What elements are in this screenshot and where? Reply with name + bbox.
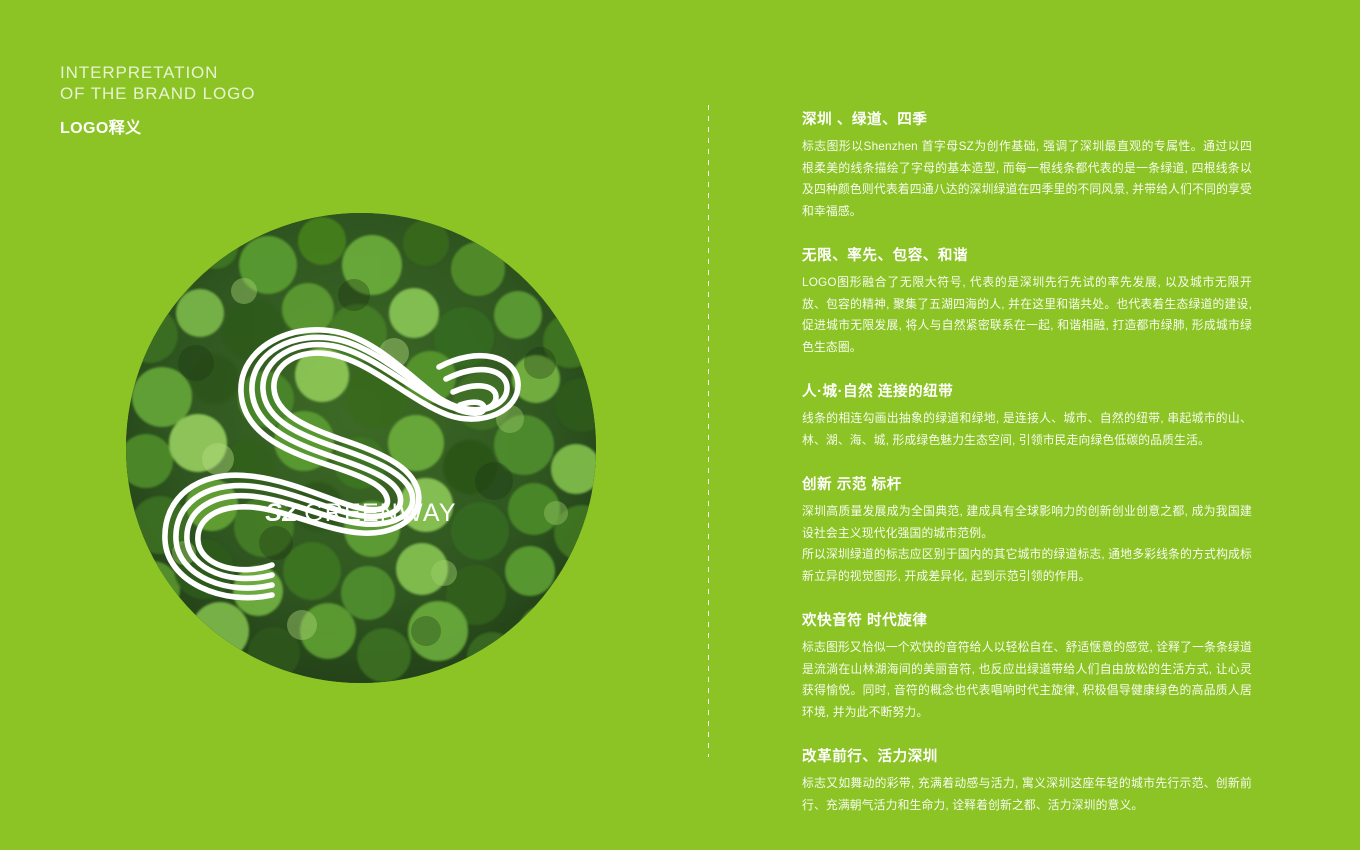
section-title: 无限、率先、包容、和谐	[802, 244, 1252, 265]
interpretation-content: 深圳 、绿道、四季 标志图形以Shenzhen 首字母SZ为创作基础, 强调了深…	[802, 108, 1252, 816]
section-title: 深圳 、绿道、四季	[802, 108, 1252, 129]
header-english-title: INTERPRETATION OF THE BRAND LOGO	[60, 62, 255, 104]
wordmark-greenway: GREENWAY	[304, 499, 457, 527]
brand-logo-interpretation-page: INTERPRETATION OF THE BRAND LOGO LOGO释义	[0, 0, 1360, 850]
section-title: 欢快音符 时代旋律	[802, 609, 1252, 630]
section-paragraph: 标志图形以Shenzhen 首字母SZ为创作基础, 强调了深圳最直观的专属性。通…	[802, 136, 1252, 222]
section-paragraph: 所以深圳绿道的标志应区别于国内的其它城市的绿道标志, 通地多彩线条的方式构成标新…	[802, 544, 1252, 587]
header-chinese-title: LOGO释义	[60, 114, 255, 138]
section-people-city-nature: 人·城·自然 连接的纽带 线条的相连勾画出抽象的绿道和绿地, 是连接人、城市、自…	[802, 380, 1252, 451]
section-joyful-notes-era-melody: 欢快音符 时代旋律 标志图形又恰似一个欢快的音符给人以轻松自在、舒适惬意的感觉,…	[802, 609, 1252, 723]
wordmark-sz: SZ	[265, 499, 298, 527]
section-paragraph: 线条的相连勾画出抽象的绿道和绿地, 是连接人、城市、自然的纽带, 串起城市的山、…	[802, 408, 1252, 451]
section-innovation-demonstration-benchmark: 创新 示范 标杆 深圳高质量发展成为全国典范, 建成具有全球影响力的创新创业创意…	[802, 473, 1252, 587]
section-paragraph: LOGO图形融合了无限大符号, 代表的是深圳先行先试的率先发展, 以及城市无限开…	[802, 272, 1252, 358]
section-title: 人·城·自然 连接的纽带	[802, 380, 1252, 401]
section-paragraph: 标志又如舞动的彩带, 充满着动感与活力, 寓义深圳这座年轻的城市先行示范、创新前…	[802, 773, 1252, 816]
page-header: INTERPRETATION OF THE BRAND LOGO LOGO释义	[60, 62, 255, 138]
section-title: 改革前行、活力深圳	[802, 745, 1252, 766]
section-paragraph: 深圳高质量发展成为全国典范, 建成具有全球影响力的创新创业创意之都, 成为我国建…	[802, 501, 1252, 544]
section-reform-vitality-shenzhen: 改革前行、活力深圳 标志又如舞动的彩带, 充满着动感与活力, 寓义深圳这座年轻的…	[802, 745, 1252, 816]
section-title: 创新 示范 标杆	[802, 473, 1252, 494]
section-infinite-pioneering-inclusive-harmony: 无限、率先、包容、和谐 LOGO图形融合了无限大符号, 代表的是深圳先行先试的率…	[802, 244, 1252, 358]
logo-wordmark: SZGREENWAY	[126, 501, 596, 526]
forest-canopy-image	[126, 213, 596, 683]
section-shenzhen-greenway-seasons: 深圳 、绿道、四季 标志图形以Shenzhen 首字母SZ为创作基础, 强调了深…	[802, 108, 1252, 222]
section-paragraph: 标志图形又恰似一个欢快的音符给人以轻松自在、舒适惬意的感觉, 诠释了一条条绿道是…	[802, 637, 1252, 723]
vertical-dashed-divider	[708, 105, 709, 757]
logo-circle: SZGREENWAY	[126, 213, 596, 683]
